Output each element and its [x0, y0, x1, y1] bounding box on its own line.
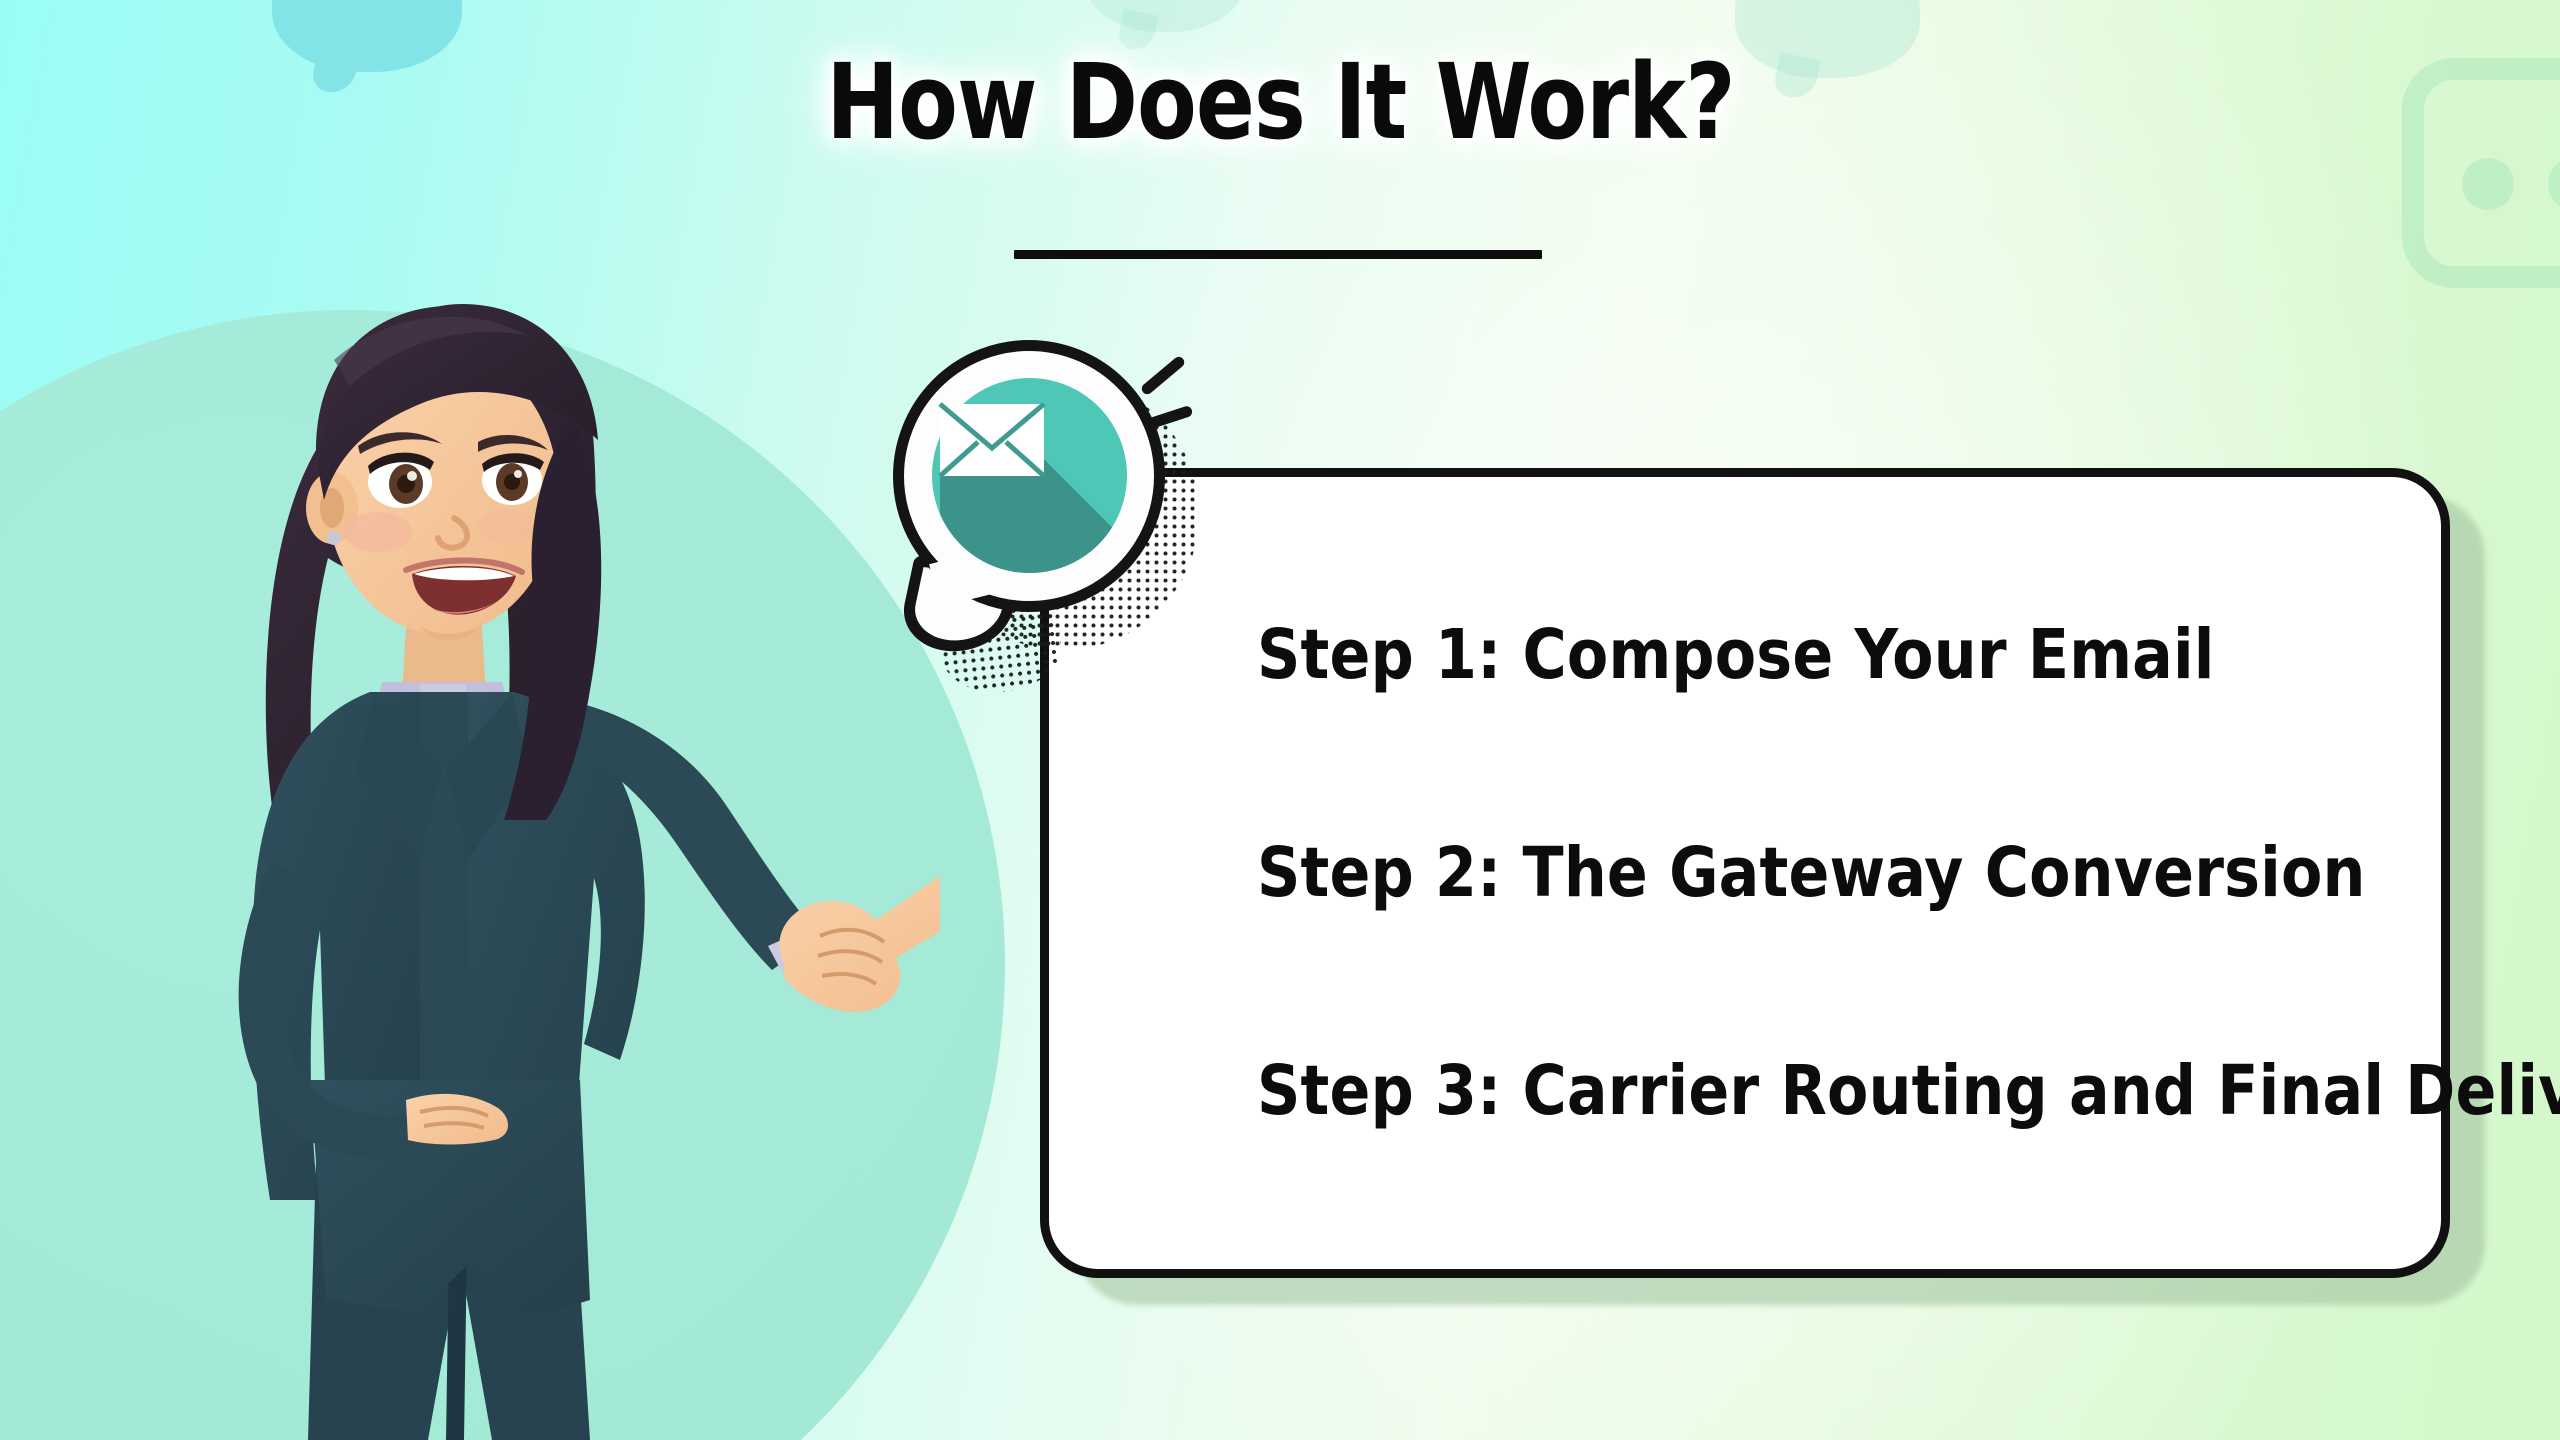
page-title-container: How Does It Work? — [0, 48, 2560, 156]
email-badge — [893, 340, 1193, 658]
list-item: Step 1: Compose Your Email — [1257, 615, 2405, 695]
title-divider — [1014, 250, 1542, 259]
steps-card: Step 1: Compose Your Email Step 2: The G… — [1040, 468, 2450, 1278]
list-item: Step 2: The Gateway Conversion — [1257, 833, 2405, 913]
slide-canvas: How Does It Work? — [0, 0, 2560, 1440]
sparkle-line-icon — [1144, 405, 1193, 430]
sparkle-line-icon — [1140, 355, 1187, 397]
businesswoman-pointing-illustration — [120, 300, 940, 1440]
steps-list: Step 1: Compose Your Email Step 2: The G… — [1257, 477, 2441, 1269]
list-item: Step 3: Carrier Routing and Final Delive… — [1257, 1051, 2405, 1131]
page-title: How Does It Work? — [826, 48, 1734, 156]
envelope-icon — [938, 402, 1046, 478]
speech-bubble-watermark-center-icon — [1085, 0, 1245, 32]
